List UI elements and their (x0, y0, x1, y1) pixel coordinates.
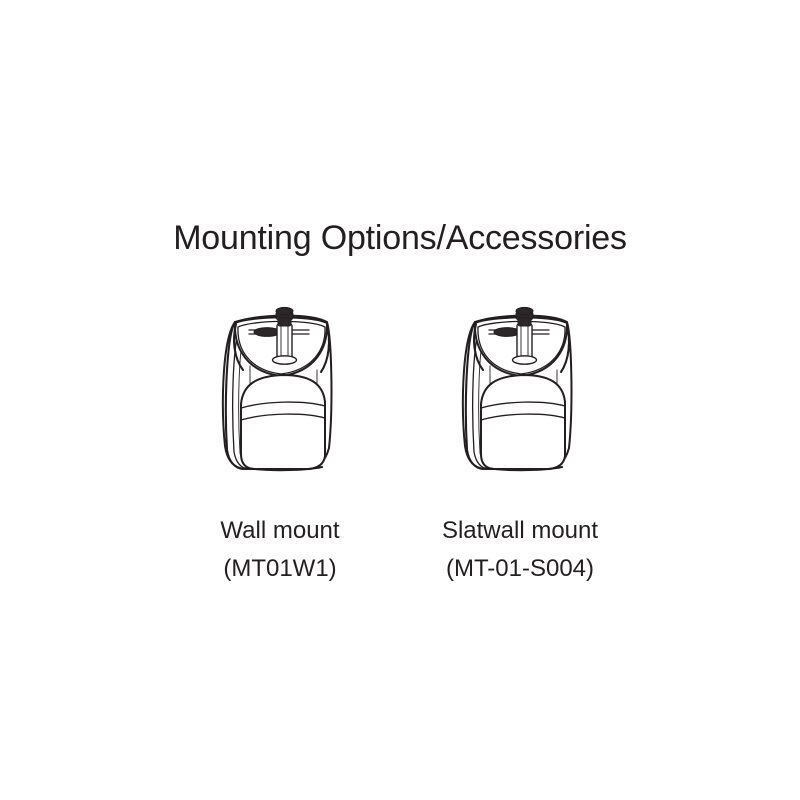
page-title: Mounting Options/Accessories (0, 216, 800, 260)
caption-line-part-number: (MT-01-S004) (442, 550, 598, 588)
figure-caption-wall-mount: Wall mount (MT01W1) (220, 512, 339, 588)
caption-line-part-number: (MT01W1) (220, 550, 339, 588)
caption-line-primary: Slatwall mount (442, 512, 598, 550)
figure-slatwall-mount: Slatwall mount (MT-01-S004) (400, 300, 640, 588)
figure-caption-slatwall-mount: Slatwall mount (MT-01-S004) (442, 512, 598, 588)
wall-mount-bracket-line-drawing (205, 300, 355, 480)
slatwall-mount-bracket-line-drawing (445, 300, 595, 480)
document-page: Mounting Options/Accessories (0, 0, 800, 800)
caption-line-primary: Wall mount (220, 512, 339, 550)
figure-row: Wall mount (MT01W1) (0, 300, 800, 588)
figure-wall-mount: Wall mount (MT01W1) (160, 300, 400, 588)
